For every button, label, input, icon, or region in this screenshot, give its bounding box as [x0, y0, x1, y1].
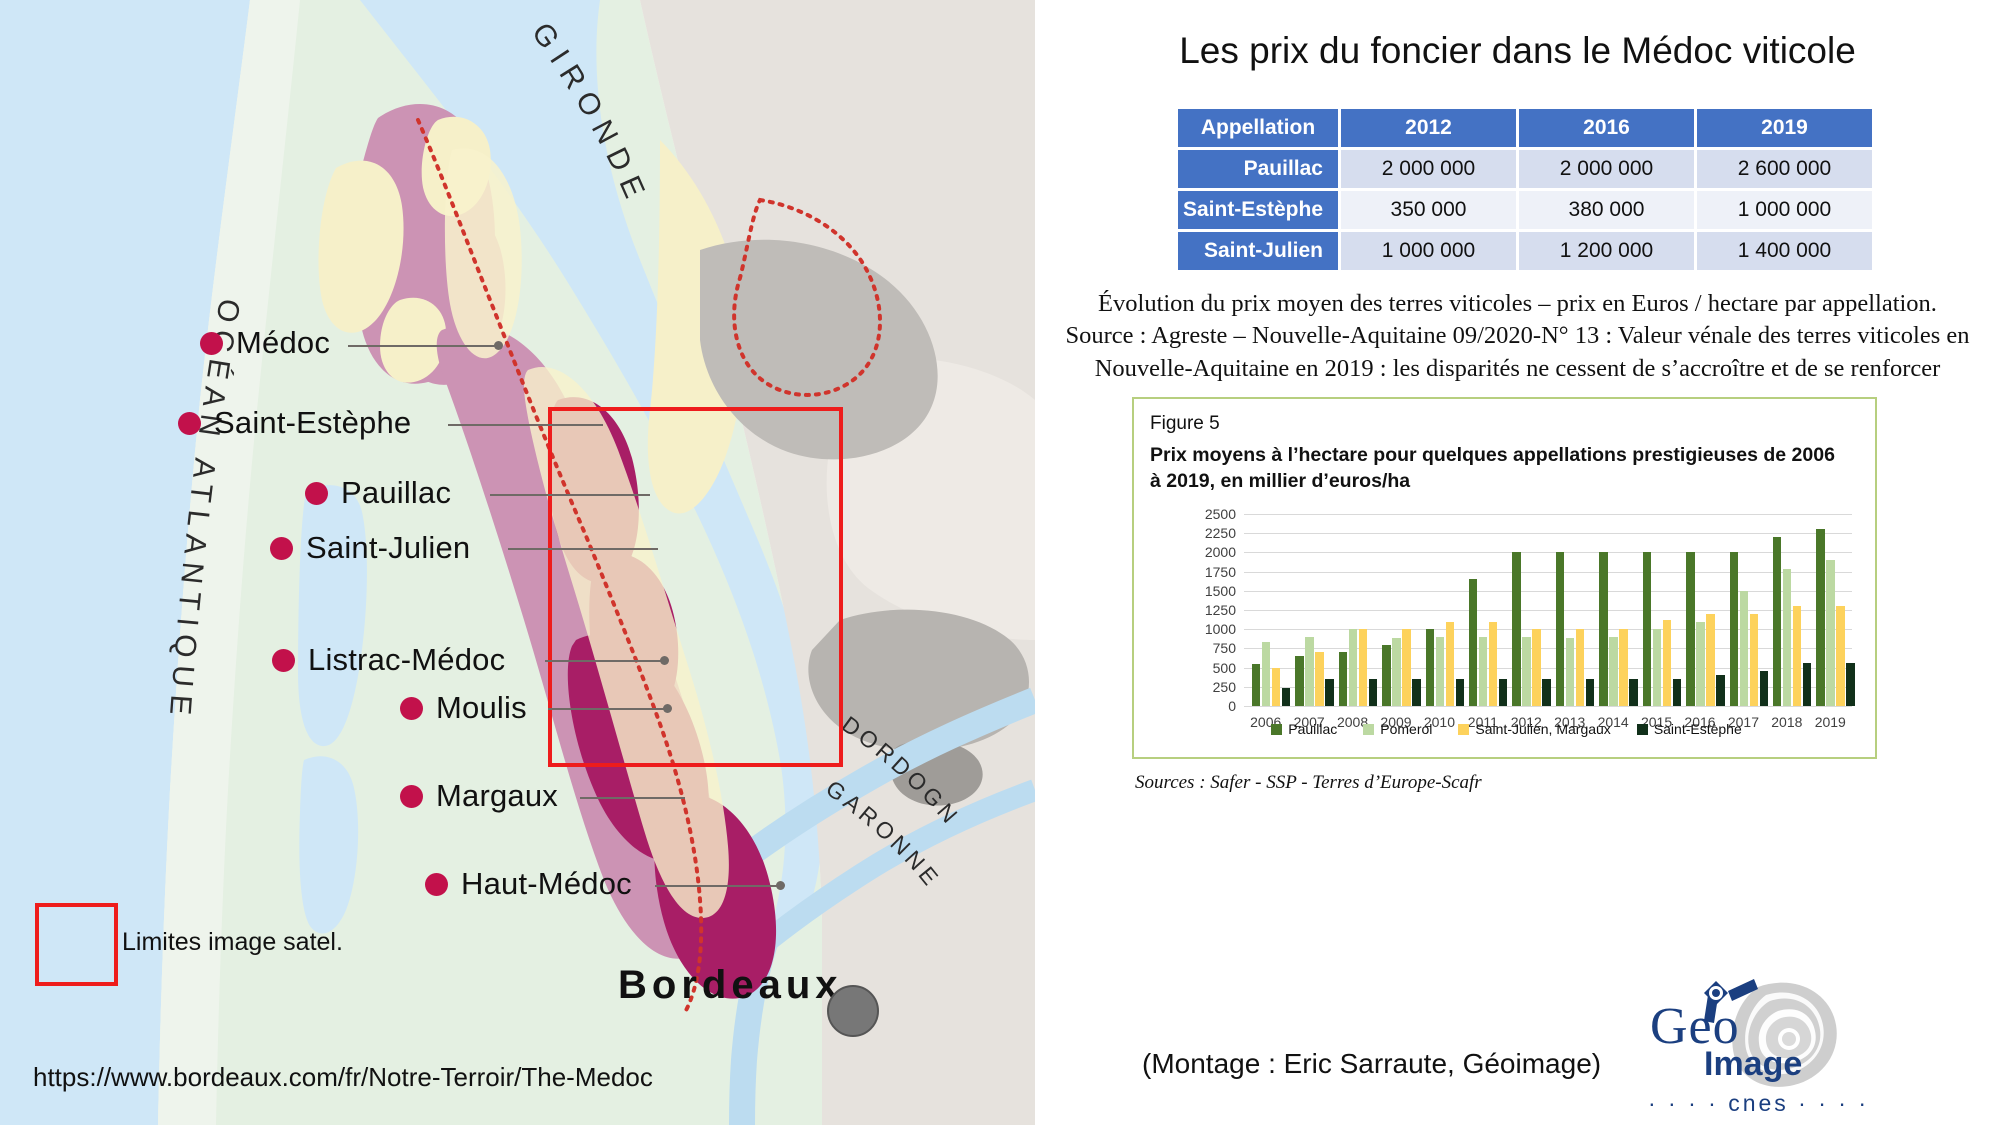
table-header-2016: 2016 [1519, 109, 1694, 147]
leader-line-saint-estephe [448, 424, 603, 426]
table-header-2012: 2012 [1341, 109, 1516, 147]
montage-credit: (Montage : Eric Sarraute, Géoimage) [1142, 1048, 1601, 1080]
table-header-2019: 2019 [1697, 109, 1872, 147]
table-cell-2019: 2 600 000 [1697, 150, 1872, 188]
chart-bar [1686, 552, 1695, 706]
figure-card: Figure 5 Prix moyens à l’hectare pour qu… [1132, 397, 1877, 759]
chart-bar [1305, 637, 1314, 706]
chart-bar [1643, 552, 1652, 706]
chart-legend: PauillacPomerolSaint-Julien, MargauxSain… [1134, 721, 1879, 737]
leader-line-medoc [348, 345, 498, 347]
chart-legend-item: Pauillac [1271, 721, 1337, 737]
right-panel: Les prix du foncier dans le Médoc vitico… [1035, 0, 2000, 1125]
chart-bar [1412, 679, 1421, 706]
chart-bar [1740, 591, 1749, 706]
table-header-appellation: Appellation [1178, 109, 1338, 147]
map-point-pauillac[interactable]: Pauillac [305, 475, 451, 511]
chart-bar [1315, 652, 1324, 706]
chart-bar [1773, 537, 1782, 706]
chart-legend-label: Pomerol [1380, 721, 1432, 737]
table-row: Pauillac 2 000 000 2 000 000 2 600 000 [1178, 150, 1872, 188]
chart-bar [1325, 679, 1334, 706]
map-label-bordeaux: Bordeaux [618, 963, 843, 1008]
chart-bar [1499, 679, 1508, 706]
map-point-saint-estephe[interactable]: Saint-Estèphe [178, 405, 411, 441]
city-dot-icon [425, 873, 448, 896]
table-cell-2019: 1 000 000 [1697, 191, 1872, 229]
chart-legend-swatch [1458, 724, 1469, 735]
map-legend-swatch [35, 903, 118, 986]
caption-line-1: Évolution du prix moyen des terres vitic… [1035, 288, 2000, 320]
chart-bar [1469, 579, 1478, 706]
chart-bar-group [1339, 514, 1378, 706]
chart-bar [1566, 638, 1575, 706]
chart-bar [1392, 638, 1401, 706]
map-panel: OCÉAN ATLANTIQUE GIRONDE DORDOGNE GARONN… [0, 0, 1035, 1125]
chart-bar [1426, 629, 1435, 706]
map-legend-label: Limites image satel. [122, 928, 343, 957]
chart-bar [1359, 629, 1368, 706]
table-row: Saint-Julien 1 000 000 1 200 000 1 400 0… [1178, 232, 1872, 270]
chart-bar [1586, 679, 1595, 706]
figure-number: Figure 5 [1150, 413, 1220, 435]
chart-bar-group [1643, 514, 1682, 706]
leader-line-margaux [580, 797, 685, 799]
chart-bar [1479, 637, 1488, 706]
chart-y-tick-label: 2250 [1192, 525, 1236, 541]
chart-bar [1402, 629, 1411, 706]
chart-y-tick-label: 1500 [1192, 583, 1236, 599]
chart-bar [1339, 652, 1348, 706]
chart-bar-group [1773, 514, 1812, 706]
chart-bar [1349, 629, 1358, 706]
map-point-margaux[interactable]: Margaux [400, 778, 558, 814]
chart-bar [1295, 656, 1304, 706]
chart-legend-item: Saint-Estèphe [1637, 721, 1742, 737]
table-cell-2012: 350 000 [1341, 191, 1516, 229]
chart-bar [1629, 679, 1638, 706]
table-cell-appellation: Saint-Julien [1178, 232, 1338, 270]
chart-legend-swatch [1637, 724, 1648, 735]
chart-y-tick-label: 2500 [1192, 506, 1236, 522]
figure-source: Sources : Safer - SSP - Terres d’Europe-… [1135, 772, 1482, 794]
chart-bar [1489, 622, 1498, 706]
table-caption: Évolution du prix moyen des terres vitic… [1035, 288, 2000, 385]
map-label-listrac-medoc: Listrac-Médoc [308, 642, 505, 678]
geoimage-logo: Geo Image · · · · cnes · · · · [1642, 965, 1882, 1105]
chart-bar-group [1599, 514, 1638, 706]
table-cell-appellation: Pauillac [1178, 150, 1338, 188]
chart-bar [1542, 679, 1551, 706]
chart-bar [1282, 688, 1291, 706]
leader-line-haut-medoc [655, 885, 780, 887]
chart-y-tick-label: 1000 [1192, 621, 1236, 637]
chart-bar [1706, 614, 1715, 706]
city-dot-icon [270, 537, 293, 560]
chart-y-tick-label: 2000 [1192, 544, 1236, 560]
map-point-haut-medoc[interactable]: Haut-Médoc [425, 866, 632, 902]
chart-bar [1783, 569, 1792, 706]
chart-y-tick-label: 1750 [1192, 564, 1236, 580]
chart-bar [1803, 663, 1812, 706]
caption-line-2: Source : Agreste – Nouvelle-Aquitaine 09… [1035, 320, 2000, 352]
chart-bar [1760, 671, 1769, 706]
chart-bar [1436, 637, 1445, 706]
chart-bar-group [1816, 514, 1855, 706]
map-label-pauillac: Pauillac [341, 475, 451, 511]
table-cell-2016: 2 000 000 [1519, 150, 1694, 188]
table-cell-2012: 1 000 000 [1341, 232, 1516, 270]
chart-legend-label: Pauillac [1288, 721, 1337, 737]
chart-bar [1262, 642, 1271, 707]
chart-gridline [1244, 706, 1852, 707]
chart-legend-swatch [1363, 724, 1374, 735]
chart-y-tick-label: 0 [1192, 698, 1236, 714]
price-table: Appellation 2012 2016 2019 Pauillac 2 00… [1175, 106, 1875, 273]
map-point-medoc[interactable]: Médoc [200, 325, 330, 361]
chart-bar [1673, 679, 1682, 706]
leader-line-moulis [548, 708, 668, 710]
chart-legend-item: Saint-Julien, Margaux [1458, 721, 1610, 737]
chart-bar [1599, 552, 1608, 706]
table-cell-appellation: Saint-Estèphe [1178, 191, 1338, 229]
caption-line-3: Nouvelle-Aquitaine en 2019 : les dispari… [1035, 353, 2000, 385]
leader-line-pauillac [490, 494, 650, 496]
city-dot-icon [272, 649, 295, 672]
map-label-saint-estephe: Saint-Estèphe [214, 405, 411, 441]
leader-endpoint-moulis [663, 704, 672, 713]
city-dot-icon [400, 697, 423, 720]
chart-bar [1619, 629, 1628, 706]
table-cell-2016: 380 000 [1519, 191, 1694, 229]
logo-text-cnes: · · · · cnes · · · · [1648, 1090, 1869, 1117]
leader-endpoint-medoc [494, 341, 503, 350]
chart-bar [1836, 606, 1845, 706]
leader-line-listrac-medoc [545, 660, 665, 662]
map-source-url[interactable]: https://www.bordeaux.com/fr/Notre-Terroi… [33, 1062, 653, 1093]
chart-bar [1532, 629, 1541, 706]
chart-bar [1750, 614, 1759, 706]
city-dot-icon [200, 332, 223, 355]
chart-bar [1663, 620, 1672, 706]
chart-bar-group [1426, 514, 1465, 706]
leader-endpoint-listrac [660, 656, 669, 665]
table-cell-2016: 1 200 000 [1519, 232, 1694, 270]
chart-bar-group [1295, 514, 1334, 706]
chart-bar [1446, 622, 1455, 706]
chart-bar-group [1252, 514, 1291, 706]
chart-bar [1609, 637, 1618, 706]
chart-legend-label: Saint-Julien, Margaux [1475, 721, 1610, 737]
chart-y-tick-label: 750 [1192, 640, 1236, 656]
city-dot-icon [178, 412, 201, 435]
chart-bar [1576, 629, 1585, 706]
chart-bar [1382, 645, 1391, 706]
table-cell-2019: 1 400 000 [1697, 232, 1872, 270]
map-label-saint-julien: Saint-Julien [306, 530, 470, 566]
chart-bar [1252, 664, 1261, 706]
chart-bar [1730, 552, 1739, 706]
chart-bar-group [1730, 514, 1769, 706]
chart-legend-swatch [1271, 724, 1282, 735]
map-point-saint-julien[interactable]: Saint-Julien [270, 530, 470, 566]
map-label-moulis: Moulis [436, 690, 527, 726]
table-row: Saint-Estèphe 350 000 380 000 1 000 000 [1178, 191, 1872, 229]
chart-bar [1556, 552, 1565, 706]
chart-bar [1512, 552, 1521, 706]
chart-bar [1522, 637, 1531, 706]
map-point-listrac-medoc[interactable]: Listrac-Médoc [272, 642, 505, 678]
leader-endpoint-haut-medoc [776, 881, 785, 890]
chart-y-tick-label: 500 [1192, 660, 1236, 676]
chart-bar [1653, 629, 1662, 706]
chart-bar [1716, 675, 1725, 706]
chart-y-tick-label: 250 [1192, 679, 1236, 695]
chart-bar-group [1382, 514, 1421, 706]
leader-line-saint-julien [508, 548, 658, 550]
bar-chart: 0250500750100012501500175020002250250020… [1192, 514, 1852, 706]
chart-y-tick-label: 1250 [1192, 602, 1236, 618]
table-header-row: Appellation 2012 2016 2019 [1178, 109, 1872, 147]
city-dot-icon [400, 785, 423, 808]
map-label-medoc: Médoc [236, 325, 330, 361]
satellite-extent-frame [548, 407, 843, 767]
page-title: Les prix du foncier dans le Médoc vitico… [1035, 30, 2000, 72]
chart-bar-group [1512, 514, 1551, 706]
chart-bar [1696, 622, 1705, 706]
chart-legend-item: Pomerol [1363, 721, 1432, 737]
chart-bar-group [1556, 514, 1595, 706]
map-point-moulis[interactable]: Moulis [400, 690, 527, 726]
logo-text-image: Image [1704, 1045, 1802, 1084]
chart-legend-label: Saint-Estèphe [1654, 721, 1742, 737]
chart-bar [1826, 560, 1835, 706]
map-label-haut-medoc: Haut-Médoc [461, 866, 632, 902]
chart-bar [1456, 679, 1465, 706]
map-label-margaux: Margaux [436, 778, 558, 814]
chart-bar [1846, 663, 1855, 706]
chart-bar-group [1469, 514, 1508, 706]
figure-title: Prix moyens à l’hectare pour quelques ap… [1150, 442, 1850, 495]
city-dot-icon [305, 482, 328, 505]
chart-bar [1816, 529, 1825, 706]
chart-bar-group [1686, 514, 1725, 706]
chart-bar [1369, 679, 1378, 706]
chart-bar [1793, 606, 1802, 706]
table-cell-2012: 2 000 000 [1341, 150, 1516, 188]
chart-bar [1272, 668, 1281, 706]
bordeaux-city-dot-icon [827, 985, 879, 1037]
